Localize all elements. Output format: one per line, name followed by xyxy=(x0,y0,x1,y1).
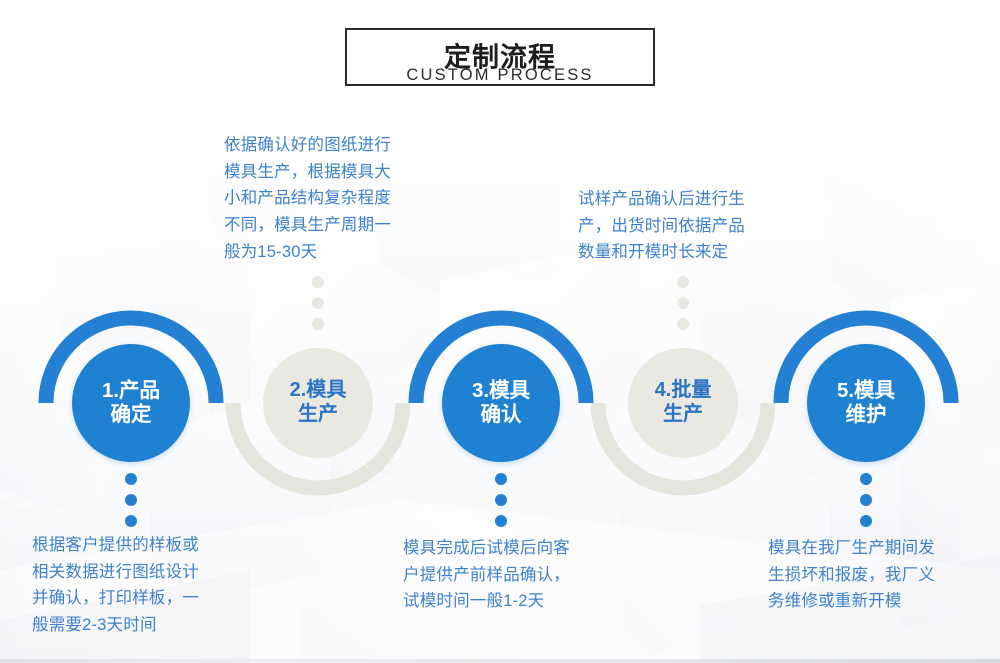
step-node-3-label-line1: 3.模具 xyxy=(472,379,530,403)
caption-line: 生损坏和报废，我厂义 xyxy=(768,562,988,589)
caption-line: 产，出货时间依据产品 xyxy=(578,213,798,240)
connector-dots-4 xyxy=(677,276,689,330)
connector-dots-3 xyxy=(495,473,507,527)
step-node-3-label-line2: 确认 xyxy=(481,403,522,427)
step-node-5[interactable]: 5.模具 维护 xyxy=(807,344,925,462)
step-node-4-label-line2: 生产 xyxy=(663,403,703,427)
step-caption-2: 依据确认好的图纸进行 模具生产，根据模具大 小和产品结构复杂程度 不同，模具生产… xyxy=(224,132,444,266)
caption-line: 依据确认好的图纸进行 xyxy=(224,132,444,159)
step-caption-1: 根据客户提供的样板或 相关数据进行图纸设计 并确认，打印样板，一 般需要2-3天… xyxy=(32,532,252,639)
step-node-5-label-line1: 5.模具 xyxy=(837,379,895,403)
connector-dots-5 xyxy=(860,473,872,527)
caption-line: 模具在我厂生产期间发 xyxy=(768,535,988,562)
title-frame: 定制流程 CUSTOM PROCESS xyxy=(345,28,655,86)
dot xyxy=(677,276,689,288)
dot xyxy=(125,473,137,485)
dot xyxy=(860,473,872,485)
dot xyxy=(312,318,324,330)
header: 定制流程 CUSTOM PROCESS xyxy=(0,0,1000,100)
step-node-4-label-line1: 4.批量 xyxy=(655,379,712,403)
step-node-2-label-line2: 生产 xyxy=(298,403,338,427)
step-caption-5: 模具在我厂生产期间发 生损坏和报废，我厂义 务维修或重新开模 xyxy=(768,535,988,615)
dot xyxy=(125,515,137,527)
connector-dots-2 xyxy=(312,276,324,330)
dot xyxy=(860,515,872,527)
dot xyxy=(312,297,324,309)
caption-line: 不同，模具生产周期一 xyxy=(224,212,444,239)
step-caption-4: 试样产品确认后进行生 产，出货时间依据产品 数量和开模时长来定 xyxy=(578,186,798,266)
dot xyxy=(677,318,689,330)
caption-line: 根据客户提供的样板或 xyxy=(32,532,252,559)
infographic-canvas: 定制流程 CUSTOM PROCESS 1.产品 确定 xyxy=(0,0,1000,663)
step-node-1[interactable]: 1.产品 确定 xyxy=(72,344,190,462)
dot xyxy=(495,494,507,506)
dot xyxy=(125,494,137,506)
step-node-4[interactable]: 4.批量 生产 xyxy=(628,348,738,458)
caption-line: 试样产品确认后进行生 xyxy=(578,186,798,213)
caption-line: 并确认，打印样板，一 xyxy=(32,585,252,612)
dot xyxy=(495,473,507,485)
step-node-1-label-line2: 确定 xyxy=(111,403,152,427)
caption-line: 数量和开模时长来定 xyxy=(578,239,798,266)
dot xyxy=(860,494,872,506)
caption-line: 般需要2-3天时间 xyxy=(32,612,252,639)
caption-line: 试模时间一般1-2天 xyxy=(403,588,623,615)
step-node-1-label-line1: 1.产品 xyxy=(102,379,160,403)
caption-line: 务维修或重新开模 xyxy=(768,588,988,615)
caption-line: 相关数据进行图纸设计 xyxy=(32,559,252,586)
caption-line: 户提供产前样品确认， xyxy=(403,562,623,589)
dot xyxy=(312,276,324,288)
caption-line: 般为15-30天 xyxy=(224,239,444,266)
caption-line: 模具生产，根据模具大 xyxy=(224,159,444,186)
page-title-en: CUSTOM PROCESS xyxy=(406,66,593,85)
caption-line: 模具完成后试模后向客 xyxy=(403,535,623,562)
caption-line: 小和产品结构复杂程度 xyxy=(224,185,444,212)
dot xyxy=(677,297,689,309)
connector-dots-1 xyxy=(125,473,137,527)
dot xyxy=(495,515,507,527)
step-node-3[interactable]: 3.模具 确认 xyxy=(442,344,560,462)
step-node-2[interactable]: 2.模具 生产 xyxy=(263,348,373,458)
step-node-2-label-line1: 2.模具 xyxy=(290,379,347,403)
step-caption-3: 模具完成后试模后向客 户提供产前样品确认， 试模时间一般1-2天 xyxy=(403,535,623,615)
step-node-5-label-line2: 维护 xyxy=(846,403,887,427)
